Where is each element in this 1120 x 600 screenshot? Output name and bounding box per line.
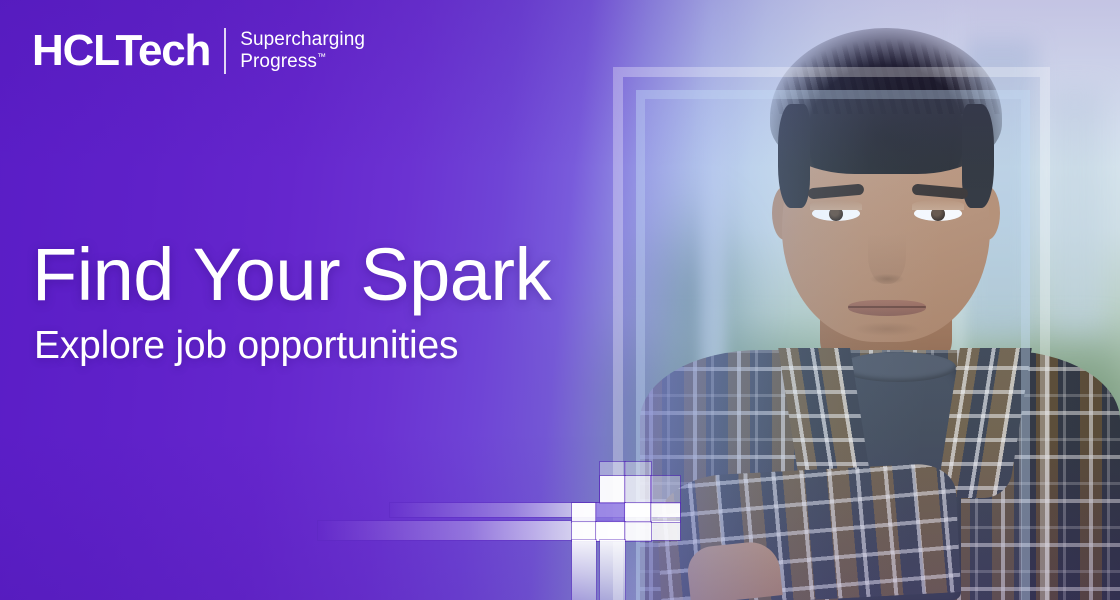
logo-tagline: Supercharging Progress™ (240, 29, 365, 73)
hero-headline: Find Your Spark (32, 238, 551, 312)
logo-divider (224, 28, 226, 74)
logo-tagline-line2-text: Progress (240, 51, 317, 72)
hero-subheadline: Explore job opportunities (34, 326, 458, 365)
hcltech-careers-hero-banner: HCLTech Supercharging Progress™ Find You… (0, 0, 1120, 600)
hcltech-logo[interactable]: HCLTech Supercharging Progress™ (32, 28, 365, 74)
trademark-symbol: ™ (317, 52, 326, 62)
logo-wordmark: HCLTech (32, 29, 210, 73)
logo-tagline-line2: Progress™ (240, 51, 365, 73)
logo-tagline-line1: Supercharging (240, 29, 365, 51)
decorative-frame-inner (636, 90, 1030, 600)
